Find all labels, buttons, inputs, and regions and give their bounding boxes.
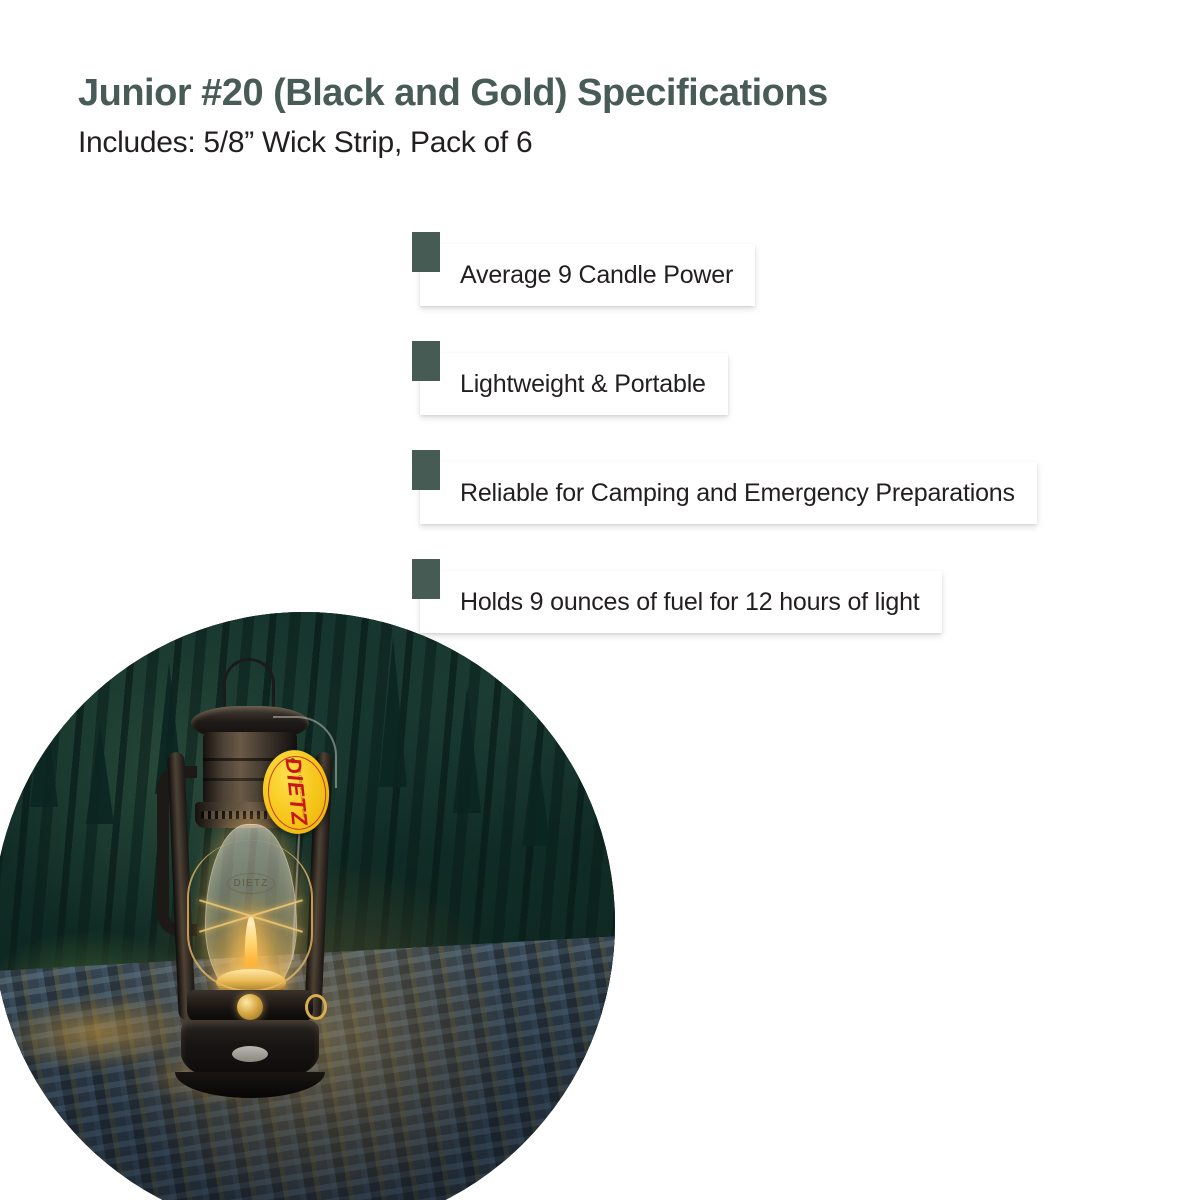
page-title: Junior #20 (Black and Gold) Specificatio… [78, 72, 1118, 116]
tree-icon [379, 637, 407, 787]
tag-brand-label: DIETZ [279, 757, 312, 828]
tree-icon [522, 736, 550, 846]
tree-icon [453, 687, 481, 813]
bullet-square-icon [412, 450, 440, 490]
bail-handle-icon [223, 658, 275, 710]
photo-scene: DIETZ [0, 612, 615, 1200]
bullet-square-icon [412, 341, 440, 381]
product-photo: DIETZ [0, 612, 615, 1200]
specification-list: Average 9 Candle Power Lightweight & Por… [412, 232, 1112, 621]
list-item: Average 9 Candle Power [412, 232, 1112, 294]
list-item: Holds 9 ounces of fuel for 12 hours of l… [412, 559, 1112, 621]
spec-card: Reliable for Camping and Emergency Prepa… [420, 462, 1037, 524]
spec-label: Reliable for Camping and Emergency Prepa… [460, 481, 1015, 506]
page-subtitle: Includes: 5/8” Wick Strip, Pack of 6 [78, 125, 1118, 161]
spec-card: Average 9 Candle Power [420, 244, 755, 306]
dietz-lantern: DIETZ [145, 658, 355, 1178]
spec-label: Holds 9 ounces of fuel for 12 hours of l… [460, 590, 920, 615]
list-item: Reliable for Camping and Emergency Prepa… [412, 450, 1112, 512]
product-spec-page: Junior #20 (Black and Gold) Specificatio… [0, 0, 1200, 1200]
bullet-square-icon [412, 232, 440, 272]
list-item: Lightweight & Portable [412, 341, 1112, 403]
tree-icon [86, 724, 114, 824]
tree-icon [30, 687, 58, 807]
base-badge [232, 1046, 268, 1062]
spec-label: Average 9 Candle Power [460, 263, 733, 288]
brass-loop-icon [305, 994, 327, 1020]
spec-card: Lightweight & Portable [420, 353, 728, 415]
bullet-square-icon [412, 559, 440, 599]
spec-label: Lightweight & Portable [460, 372, 706, 397]
wick-adjuster-knob [237, 994, 263, 1020]
lantern-foot [175, 1072, 325, 1098]
globe-cross-wires [197, 888, 305, 942]
spec-card: Holds 9 ounces of fuel for 12 hours of l… [420, 571, 942, 633]
header: Junior #20 (Black and Gold) Specificatio… [78, 72, 1118, 161]
